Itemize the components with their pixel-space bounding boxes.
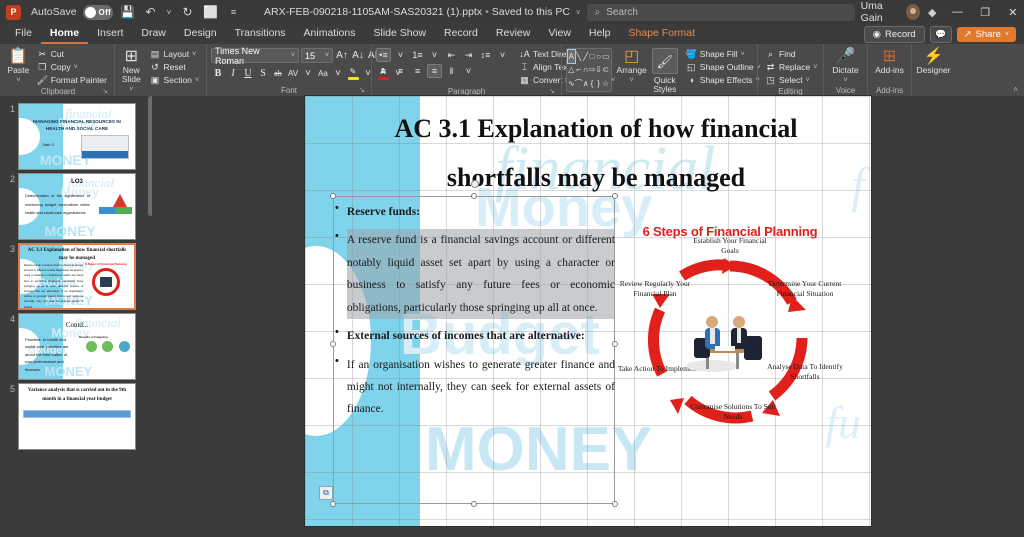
drawing-shape-options: 🪣 Shape Fill ˅ ◱ Shape Outline ˅ ◑ Shape… bbox=[683, 46, 764, 86]
smartart-icon: ▦ bbox=[519, 75, 530, 86]
document-title[interactable]: ARX-FEB-090218-1105AM-SAS20321 (1).pptx•… bbox=[264, 6, 581, 18]
bullets-caret-icon[interactable]: ˅ bbox=[393, 48, 408, 62]
find-label: Find bbox=[779, 49, 796, 59]
font-size-value: 15 bbox=[305, 51, 315, 61]
thumb2-arrow-icon bbox=[113, 194, 127, 207]
shape-elbow-connector[interactable]: ⌐ bbox=[575, 63, 583, 76]
search-container: ⌕ Search bbox=[587, 4, 855, 21]
thumb2-title: LO3 bbox=[19, 179, 135, 185]
save-location: Saved to this PC bbox=[492, 6, 570, 18]
dictate-caret-icon[interactable]: ˅ bbox=[843, 76, 847, 85]
reset-label: Reset bbox=[164, 62, 186, 72]
thumbnail-row-2: 2 financial Money MONEY LO3 Determinatio… bbox=[0, 170, 152, 240]
shape-right-brace[interactable]: } bbox=[595, 77, 602, 90]
add-ins-button[interactable]: ⊞ Add-ins bbox=[873, 46, 907, 75]
quick-styles-button[interactable]: 🖌 Quick Styles bbox=[652, 46, 678, 94]
ribbon-group-font: Times New Roman ˅ 15 ˅ A↑ A↓ A⃠ B I U S bbox=[206, 44, 371, 96]
comments-button[interactable]: 💬 bbox=[930, 26, 952, 43]
record-label: Record bbox=[885, 29, 916, 40]
bullet-marker-3: • bbox=[335, 325, 339, 347]
thumb1-title: MANAGING FINANCIAL RESOURCES IN HEALTH A… bbox=[31, 119, 124, 133]
shape-fill-button[interactable]: 🪣 Shape Fill ˅ bbox=[683, 48, 764, 60]
document-name: ARX-FEB-090218-1105AM-SAS20321 (1).pptx bbox=[264, 6, 482, 18]
minimize-button[interactable]: — bbox=[945, 0, 971, 24]
underline-button[interactable]: U bbox=[241, 66, 255, 80]
quick-styles-label: Quick Styles bbox=[652, 76, 678, 94]
voice-group-label-text: Voice bbox=[836, 86, 856, 95]
start-presentation-icon[interactable]: ⬜ bbox=[202, 4, 219, 21]
paste-icon: 📋 bbox=[8, 48, 28, 65]
shape-star[interactable]: ☆ bbox=[602, 77, 610, 90]
thumb5-bg: Variance analysis that is carried out in… bbox=[19, 384, 135, 449]
record-icon: ◉ bbox=[873, 29, 881, 40]
thumb1-image-caption bbox=[82, 151, 128, 158]
slide-number-5: 5 bbox=[4, 383, 15, 450]
search-icon: ⌕ bbox=[595, 7, 601, 18]
reset-button[interactable]: ↺ Reset bbox=[147, 61, 202, 73]
thumb4-graphic-title: Benefits of budgeting bbox=[79, 335, 131, 339]
titlebar-right-controls: Uma Gain ◆ — ❐ ✕ bbox=[861, 0, 1024, 24]
thumb5-table-header bbox=[23, 410, 131, 418]
font-name-input[interactable]: Times New Roman ˅ bbox=[211, 48, 299, 63]
arrange-button[interactable]: ◰ Arrange ˅ bbox=[617, 46, 647, 85]
replace-label: Replace bbox=[779, 62, 810, 72]
section-button[interactable]: ▣ Section ˅ bbox=[147, 74, 202, 86]
shape-oval[interactable]: ○ bbox=[595, 50, 602, 63]
tab-file[interactable]: File bbox=[6, 25, 41, 44]
justify-button[interactable]: ≡ bbox=[427, 64, 442, 78]
ribbon-group-voice: 🎤 Dictate ˅ Voice bbox=[823, 44, 867, 96]
thumb2-bg: financial Money MONEY LO3 Determination … bbox=[19, 174, 135, 239]
thumb5-title: Variance analysis that is carried out in… bbox=[23, 387, 131, 404]
tab-review[interactable]: Review bbox=[487, 25, 539, 44]
record-button[interactable]: ◉ Record bbox=[864, 26, 925, 43]
tab-shape-format[interactable]: Shape Format bbox=[620, 25, 705, 44]
clipboard-group-label-text: Clipboard bbox=[41, 87, 75, 96]
slide-thumbnail-4[interactable]: financial Money Budget MONEY Contd... Pr… bbox=[18, 313, 136, 380]
content-handle-tc[interactable] bbox=[471, 193, 477, 199]
undo-dropdown-icon[interactable]: ˅ bbox=[165, 4, 173, 21]
arrange-label: Arrange bbox=[617, 66, 647, 75]
tab-home[interactable]: Home bbox=[41, 25, 88, 44]
thumb3-title: AC 3.1 Explanation of how financial shor… bbox=[26, 247, 128, 263]
paragraph-row-1: •≡ ˅ 1≡ ˅ ⇤ ⇥ ↕≡ ˅ bbox=[376, 46, 510, 62]
slide-title[interactable]: AC 3.1 Explanation of how financial shor… bbox=[345, 104, 847, 203]
addins-group-label: Add-ins bbox=[872, 85, 907, 96]
thumb4-circle-2 bbox=[102, 341, 113, 352]
microphone-icon: 🎤 bbox=[836, 48, 856, 65]
slide-thumbnail-3[interactable]: Money Budget MONEY AC 3.1 Explanation of… bbox=[18, 243, 136, 310]
shape-right-arrow[interactable]: ⇨ bbox=[589, 63, 596, 76]
powerpoint-window: P AutoSave Off 💾 ↶ ˅ ↻ ⬜ ≡ ARX-FEB-09021… bbox=[0, 0, 1024, 537]
text-direction-icon: ↓A bbox=[519, 49, 530, 59]
numbering-caret-icon[interactable]: ˅ bbox=[427, 48, 442, 62]
ribbon-group-slides: ⊞ New Slide ˅ ▤ Layout ˅ ↺ Reset ▣ bbox=[114, 44, 206, 96]
thumb1-subtitle: Task 3 bbox=[42, 142, 54, 147]
autosave-state-label: Off bbox=[99, 8, 111, 17]
format-painter-button[interactable]: 🖌 Format Painter bbox=[34, 74, 110, 86]
new-slide-icon: ⊞ bbox=[125, 48, 138, 65]
voice-group-label: Voice bbox=[828, 85, 863, 96]
shape-fill-caret-icon[interactable]: ˅ bbox=[741, 51, 745, 58]
bullet-marker-1: • bbox=[335, 201, 339, 223]
bullet-item-4[interactable]: • If an organisation wishes to generate … bbox=[335, 354, 615, 421]
increase-indent-button[interactable]: ⇥ bbox=[461, 48, 476, 62]
find-icon: ⌕ bbox=[765, 49, 776, 60]
ribbon-group-drawing: A ╲ ╱ □ ○ ▭ △ ⌐ ∩ ⇨ ⇩ ⊂ ∿ ⌒ ∧ { } bbox=[561, 44, 757, 96]
editing-buttons: ⌕ Find ⇄ Replace ˅ ◳ Select ˅ bbox=[762, 46, 820, 86]
thumbnail-row-1: 1 financial Money MONEY MANAGING FINANCI… bbox=[0, 100, 152, 170]
copy-button[interactable]: ❐ Copy ˅ bbox=[34, 61, 110, 73]
slide-body-text[interactable]: • Reserve funds: • A reserve fund is a f… bbox=[335, 201, 615, 427]
find-button[interactable]: ⌕ Find bbox=[762, 48, 820, 60]
autosave-toggle[interactable]: Off bbox=[83, 5, 113, 20]
step-label-determine-situation: Determine Your Current Financial Situati… bbox=[762, 279, 848, 299]
font-size-input[interactable]: 15 ˅ bbox=[301, 48, 333, 63]
designer-icon: ⚡ bbox=[924, 48, 944, 65]
bullet-marker-4: • bbox=[335, 354, 339, 421]
slides-group-body: ⊞ New Slide ˅ ▤ Layout ˅ ↺ Reset ▣ bbox=[119, 46, 202, 94]
slide-thumbnail-5[interactable]: Variance analysis that is carried out in… bbox=[18, 383, 136, 450]
thumb2-body: Determination of the significance of mon… bbox=[25, 192, 90, 218]
copy-label: Copy bbox=[51, 62, 71, 72]
bold-button[interactable]: B bbox=[211, 66, 225, 80]
cut-label: Cut bbox=[51, 49, 64, 59]
title-rotate-handle[interactable] bbox=[471, 180, 479, 188]
content-handle-br[interactable] bbox=[612, 501, 618, 507]
addins-group-body: ⊞ Add-ins bbox=[872, 46, 907, 85]
ribbon: 📋 Paste ˅ ✂ Cut ❐ Copy ˅ 🖌 bbox=[0, 44, 1024, 96]
share-icon: ↗ bbox=[964, 29, 972, 40]
line-spacing-button[interactable]: ↕≡ bbox=[478, 48, 493, 62]
numbering-button[interactable]: 1≡ bbox=[410, 48, 425, 62]
financial-planning-infographic[interactable]: 6 Steps of Financial Planning bbox=[610, 224, 850, 439]
decrease-indent-button[interactable]: ⇤ bbox=[444, 48, 459, 62]
slide-number-3: 3 bbox=[4, 243, 15, 310]
slide-stage-wrapper: financial Money Budget MONEY f fu AC 3.1… bbox=[152, 96, 1024, 537]
paste-caret-icon[interactable]: ˅ bbox=[16, 76, 20, 85]
thumbnail-row-4: 4 financial Money Budget MONEY Contd... … bbox=[0, 310, 152, 380]
font-size-caret-icon[interactable]: ˅ bbox=[325, 52, 329, 59]
line-spacing-caret-icon[interactable]: ˅ bbox=[495, 48, 510, 62]
thumb4-title: Contd... bbox=[19, 321, 135, 329]
thumb4-circle-3 bbox=[119, 341, 130, 352]
new-slide-button[interactable]: ⊞ New Slide ˅ bbox=[119, 46, 144, 94]
bullet-item-3[interactable]: • External sources of incomes that are a… bbox=[335, 325, 615, 347]
arrange-icon: ◰ bbox=[624, 48, 639, 65]
quick-styles-icon: 🖌 bbox=[652, 48, 678, 74]
layout-button[interactable]: ▤ Layout ˅ bbox=[147, 48, 202, 60]
addins-group-label-text: Add-ins bbox=[876, 86, 903, 95]
designer-group-body: ⚡ Designer bbox=[916, 46, 951, 85]
paragraph-group-body: •≡ ˅ 1≡ ˅ ⇤ ⇥ ↕≡ ˅ ≡ ≡ ≡ ≡ ‖ bbox=[376, 46, 557, 86]
shape-line[interactable]: ╲ bbox=[575, 50, 583, 63]
search-input[interactable]: ⌕ Search bbox=[587, 4, 855, 21]
highlight-color-bar bbox=[348, 77, 359, 80]
shape-text-box[interactable]: A bbox=[568, 50, 575, 63]
save-dropdown-icon[interactable]: ˅ bbox=[576, 8, 581, 17]
add-ins-label: Add-ins bbox=[875, 66, 904, 75]
cut-button[interactable]: ✂ Cut bbox=[34, 48, 110, 60]
font-dialog-launcher[interactable]: ↘ bbox=[359, 85, 365, 96]
ribbon-group-addins: ⊞ Add-ins Add-ins bbox=[867, 44, 911, 96]
ribbon-group-clipboard: 📋 Paste ˅ ✂ Cut ❐ Copy ˅ 🖌 bbox=[2, 44, 114, 96]
shape-left-brace[interactable]: { bbox=[589, 77, 596, 90]
tab-help[interactable]: Help bbox=[580, 25, 620, 44]
editing-group-label-text: Editing bbox=[778, 87, 802, 96]
shape-effects-label: Shape Effects bbox=[700, 75, 753, 85]
columns-button[interactable]: ‖ bbox=[444, 64, 459, 78]
select-label: Select bbox=[779, 75, 803, 85]
bullet-marker-2: • bbox=[335, 229, 339, 319]
thumb3-bg: Money Budget MONEY AC 3.1 Explanation of… bbox=[20, 245, 134, 308]
select-button[interactable]: ◳ Select ˅ bbox=[762, 74, 820, 86]
align-text-icon: ⌶ bbox=[519, 62, 530, 73]
dictate-button[interactable]: 🎤 Dictate ˅ bbox=[829, 46, 863, 85]
step-label-customise-solutions: Customise Solutions To Suit Needs bbox=[690, 402, 776, 422]
slide-number-2: 2 bbox=[4, 173, 15, 240]
increase-font-size-button[interactable]: A↑ bbox=[335, 49, 349, 63]
shape-fill-label: Shape Fill bbox=[700, 49, 738, 59]
section-icon: ▣ bbox=[150, 75, 161, 86]
voice-group-body: 🎤 Dictate ˅ bbox=[828, 46, 863, 85]
slide-thumbnail-2[interactable]: financial Money MONEY LO3 Determination … bbox=[18, 173, 136, 240]
font-group-label-text: Font bbox=[281, 86, 297, 95]
tab-record[interactable]: Record bbox=[435, 25, 487, 44]
content-handle-tl[interactable] bbox=[330, 193, 336, 199]
select-caret-icon[interactable]: ˅ bbox=[806, 77, 810, 84]
shape-outline-icon: ◱ bbox=[686, 62, 697, 73]
designer-group-label bbox=[916, 85, 951, 96]
thumb3-body: Reserve funds: A reserve fund is a finan… bbox=[24, 263, 83, 308]
clipboard-small-buttons: ✂ Cut ❐ Copy ˅ 🖌 Format Painter bbox=[34, 46, 110, 86]
shape-freeform[interactable]: ∿ bbox=[568, 77, 575, 90]
slides-small-buttons: ▤ Layout ˅ ↺ Reset ▣ Section ˅ bbox=[147, 46, 202, 86]
tab-animations[interactable]: Animations bbox=[295, 25, 365, 44]
paragraph-group-label-text: Paragraph bbox=[448, 87, 485, 96]
format-painter-icon: 🖌 bbox=[37, 75, 48, 86]
avatar[interactable] bbox=[906, 4, 920, 20]
layout-caret-icon[interactable]: ˅ bbox=[192, 51, 196, 58]
record-share-bar: ◉ Record 💬 ↗ Share ˅ bbox=[864, 26, 1016, 43]
reset-icon: ↺ bbox=[150, 62, 161, 73]
thumb4-circle-1 bbox=[86, 341, 97, 352]
cut-icon: ✂ bbox=[37, 49, 48, 60]
title-separator: • bbox=[485, 6, 489, 18]
designer-label: Designer bbox=[916, 66, 950, 75]
thumb1-bg: financial Money MONEY MANAGING FINANCIAL… bbox=[19, 104, 135, 169]
format-painter-label: Format Painter bbox=[51, 75, 107, 85]
search-placeholder: Search bbox=[606, 7, 638, 18]
slide-thumbnail-pane[interactable]: 1 financial Money MONEY MANAGING FINANCI… bbox=[0, 96, 152, 537]
new-slide-caret-icon[interactable]: ˅ bbox=[129, 85, 133, 94]
content-handle-bc[interactable] bbox=[471, 501, 477, 507]
thumb2-blue-sign bbox=[99, 207, 115, 214]
thumb2-green-sign bbox=[114, 207, 132, 214]
collapse-ribbon-button[interactable]: ˄ bbox=[1013, 85, 1018, 94]
share-caret-icon[interactable]: ˅ bbox=[1005, 31, 1009, 38]
dictate-label: Dictate bbox=[832, 66, 858, 75]
tab-insert[interactable]: Insert bbox=[88, 25, 132, 44]
align-left-button[interactable]: ≡ bbox=[376, 64, 391, 78]
bullet-text-4: If an organisation wishes to generate gr… bbox=[347, 354, 615, 421]
shape-effects-button[interactable]: ◑ Shape Effects ˅ bbox=[683, 74, 764, 86]
close-button[interactable]: ✕ bbox=[1000, 0, 1024, 24]
tab-view[interactable]: View bbox=[539, 25, 580, 44]
select-icon: ◳ bbox=[765, 75, 776, 86]
highlight-icon: ✎ bbox=[350, 67, 357, 76]
business-meeting-photo bbox=[682, 306, 778, 378]
section-label: Section bbox=[164, 75, 192, 85]
change-case-button[interactable]: Aa bbox=[316, 66, 330, 80]
editing-group-body: ⌕ Find ⇄ Replace ˅ ◳ Select ˅ bbox=[762, 46, 819, 86]
italic-button[interactable]: I bbox=[226, 66, 240, 80]
share-label: Share bbox=[976, 29, 1001, 40]
content-handle-bl[interactable] bbox=[330, 501, 336, 507]
replace-button[interactable]: ⇄ Replace ˅ bbox=[762, 61, 820, 73]
powerpoint-logo-icon: P bbox=[6, 5, 21, 20]
shape-outline-label: Shape Outline bbox=[700, 62, 754, 72]
user-name: Uma Gain bbox=[861, 0, 902, 24]
autosave-toggle-knob bbox=[85, 7, 96, 18]
paste-label: Paste bbox=[8, 66, 30, 75]
shape-outline-button[interactable]: ◱ Shape Outline ˅ bbox=[683, 61, 764, 73]
thumb4-body: Priorities: In health and social care, p… bbox=[25, 336, 74, 373]
section-caret-icon[interactable]: ˅ bbox=[195, 77, 199, 84]
change-case-caret-icon[interactable]: ˅ bbox=[331, 66, 345, 80]
slide-number-1: 1 bbox=[4, 103, 15, 170]
bullet-item-2[interactable]: • A reserve fund is a financial savings … bbox=[335, 229, 615, 319]
bullet-text-1: Reserve funds: bbox=[347, 201, 615, 223]
strikethrough-button[interactable]: ab bbox=[271, 66, 285, 80]
slide-number-4: 4 bbox=[4, 313, 15, 380]
align-center-button[interactable]: ≡ bbox=[393, 64, 408, 78]
thumb3-people-icon bbox=[100, 277, 112, 287]
shape-rounded-rectangle[interactable]: ▭ bbox=[602, 50, 610, 63]
bullet-item-1[interactable]: • Reserve funds: bbox=[335, 201, 615, 223]
bullet-text-3: External sources of incomes that are alt… bbox=[347, 325, 615, 347]
save-icon[interactable]: 💾 bbox=[119, 4, 136, 21]
font-name-caret-icon[interactable]: ˅ bbox=[291, 52, 295, 59]
slide-canvas[interactable]: financial Money Budget MONEY f fu AC 3.1… bbox=[305, 96, 871, 526]
shape-curve[interactable]: ⌒ bbox=[575, 77, 583, 90]
microsoft-365-diamond-icon[interactable]: ◆ bbox=[922, 0, 943, 24]
character-spacing-button[interactable]: AV bbox=[286, 66, 300, 80]
text-highlight-button[interactable]: ✎ bbox=[346, 66, 360, 80]
font-group-label: Font ↘ bbox=[211, 85, 367, 96]
font-controls-row-1: Times New Roman ˅ 15 ˅ A↑ A↓ A⃠ bbox=[211, 46, 383, 63]
bullet-text-2: A reserve fund is a financial savings ac… bbox=[347, 229, 615, 319]
drawing-group-body: A ╲ ╱ □ ○ ▭ △ ⌐ ∩ ⇨ ⇩ ⊂ ∿ ⌒ ∧ { } bbox=[566, 46, 753, 94]
step-label-establish-goals: Establish Your Financial Goals bbox=[687, 236, 773, 256]
character-spacing-caret-icon[interactable]: ˅ bbox=[301, 66, 315, 80]
thumbnail-row-3: 3 Money Budget MONEY AC 3.1 Explanation … bbox=[0, 240, 152, 310]
paste-button[interactable]: 📋 Paste ˅ bbox=[6, 46, 31, 85]
copy-icon: ❐ bbox=[37, 62, 48, 73]
paragraph-row-2: ≡ ≡ ≡ ≡ ‖ ˅ bbox=[376, 62, 510, 78]
arrange-caret-icon[interactable]: ˅ bbox=[630, 76, 634, 85]
shape-rectangle[interactable]: □ bbox=[589, 50, 596, 63]
thumb4-bg: financial Money Budget MONEY Contd... Pr… bbox=[19, 314, 135, 379]
align-right-button[interactable]: ≡ bbox=[410, 64, 425, 78]
shapes-gallery[interactable]: A ╲ ╱ □ ○ ▭ △ ⌐ ∩ ⇨ ⇩ ⊂ ∿ ⌒ ∧ { } bbox=[566, 48, 612, 92]
layout-label: Layout bbox=[164, 49, 190, 59]
main-area: 1 financial Money MONEY MANAGING FINANCI… bbox=[0, 96, 1024, 537]
paste-options-badge[interactable]: ⧉ bbox=[319, 486, 333, 500]
replace-caret-icon[interactable]: ˅ bbox=[813, 64, 817, 71]
replace-icon: ⇄ bbox=[765, 62, 776, 73]
tab-design[interactable]: Design bbox=[175, 25, 226, 44]
restore-button[interactable]: ❐ bbox=[972, 0, 998, 24]
paragraph-button-grid: •≡ ˅ 1≡ ˅ ⇤ ⇥ ↕≡ ˅ ≡ ≡ ≡ ≡ ‖ bbox=[376, 46, 510, 78]
share-button[interactable]: ↗ Share ˅ bbox=[957, 27, 1016, 42]
text-shadow-button[interactable]: S bbox=[256, 66, 270, 80]
designer-button[interactable]: ⚡ Designer bbox=[917, 46, 951, 75]
new-slide-label: New Slide bbox=[119, 66, 144, 84]
ribbon-group-editing: ⌕ Find ⇄ Replace ˅ ◳ Select ˅ bbox=[757, 44, 823, 96]
shape-triangle[interactable]: △ bbox=[568, 63, 575, 76]
tab-transitions[interactable]: Transitions bbox=[226, 25, 295, 44]
shape-fill-icon: 🪣 bbox=[686, 49, 697, 60]
layout-icon: ▤ bbox=[150, 49, 161, 60]
thumbnail-row-5: 5 Variance analysis that is carried out … bbox=[0, 380, 152, 450]
content-handle-tr[interactable] bbox=[612, 193, 618, 199]
thumb3-graphic-title: 6 Steps of Financial Planning bbox=[82, 262, 130, 266]
slide-title-line-1: AC 3.1 Explanation of how financial bbox=[345, 104, 847, 153]
watermark-f-right: f bbox=[851, 156, 865, 214]
step-label-review-regularly: Review Regularly Your Financial Plan bbox=[612, 279, 698, 299]
add-ins-icon: ⊞ bbox=[883, 48, 896, 65]
decrease-font-size-button[interactable]: A↓ bbox=[351, 49, 365, 63]
ribbon-group-designer: ⚡ Designer bbox=[911, 44, 955, 96]
autosave-label: AutoSave bbox=[31, 6, 77, 18]
bullets-button[interactable]: •≡ bbox=[376, 48, 391, 62]
tab-slide-show[interactable]: Slide Show bbox=[365, 25, 436, 44]
tab-draw[interactable]: Draw bbox=[132, 25, 175, 44]
shape-effects-icon: ◑ bbox=[686, 75, 697, 85]
copy-caret-icon[interactable]: ˅ bbox=[74, 64, 78, 71]
shape-block-arc[interactable]: ⊂ bbox=[602, 63, 610, 76]
font-group-body: Times New Roman ˅ 15 ˅ A↑ A↓ A⃠ B I U S bbox=[211, 46, 367, 85]
columns-caret-icon[interactable]: ˅ bbox=[461, 64, 476, 78]
avatar-head bbox=[910, 8, 916, 14]
slide-thumbnail-1[interactable]: financial Money MONEY MANAGING FINANCIAL… bbox=[18, 103, 136, 170]
ribbon-group-paragraph: •≡ ˅ 1≡ ˅ ⇤ ⇥ ↕≡ ˅ ≡ ≡ ≡ ≡ ‖ bbox=[371, 44, 561, 96]
undo-icon[interactable]: ↶ bbox=[142, 4, 159, 21]
redo-icon[interactable]: ↻ bbox=[179, 4, 196, 21]
title-bar: P AutoSave Off 💾 ↶ ˅ ↻ ⬜ ≡ ARX-FEB-09021… bbox=[0, 0, 1024, 24]
shape-down-arrow[interactable]: ⇩ bbox=[595, 63, 602, 76]
customize-qat-icon[interactable]: ≡ bbox=[225, 4, 242, 21]
clipboard-group-body: 📋 Paste ˅ ✂ Cut ❐ Copy ˅ 🖌 bbox=[6, 46, 110, 86]
